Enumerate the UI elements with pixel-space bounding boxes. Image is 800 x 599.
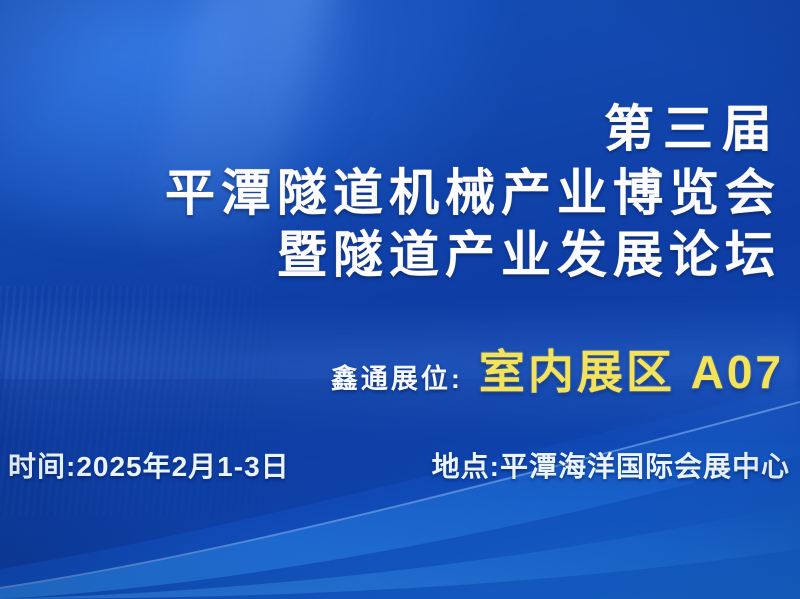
banner-content: 第三届 平潭隧道机械产业博览会 暨隧道产业发展论坛 鑫通展位: 室内展区 A07…	[0, 0, 800, 599]
booth-info-row: 鑫通展位: 室内展区 A07	[331, 336, 784, 402]
event-location: 地点:平潭海洋国际会展中心	[432, 445, 790, 485]
title-line-main: 平潭隧道机械产业博览会	[165, 168, 783, 218]
booth-number: 室内展区 A07	[479, 336, 784, 402]
event-date: 时间:2025年2月1-3日	[8, 445, 290, 485]
title-line-edition: 第三届	[165, 104, 783, 154]
booth-label: 鑫通展位:	[331, 357, 463, 396]
event-meta-row: 时间:2025年2月1-3日 地点:平潭海洋国际会展中心	[8, 445, 790, 485]
title-line-subtitle: 暨隧道产业发展论坛	[165, 230, 783, 280]
event-title-group: 第三届 平潭隧道机械产业博览会 暨隧道产业发展论坛	[165, 104, 783, 280]
exhibition-banner: 第三届 平潭隧道机械产业博览会 暨隧道产业发展论坛 鑫通展位: 室内展区 A07…	[0, 0, 800, 599]
